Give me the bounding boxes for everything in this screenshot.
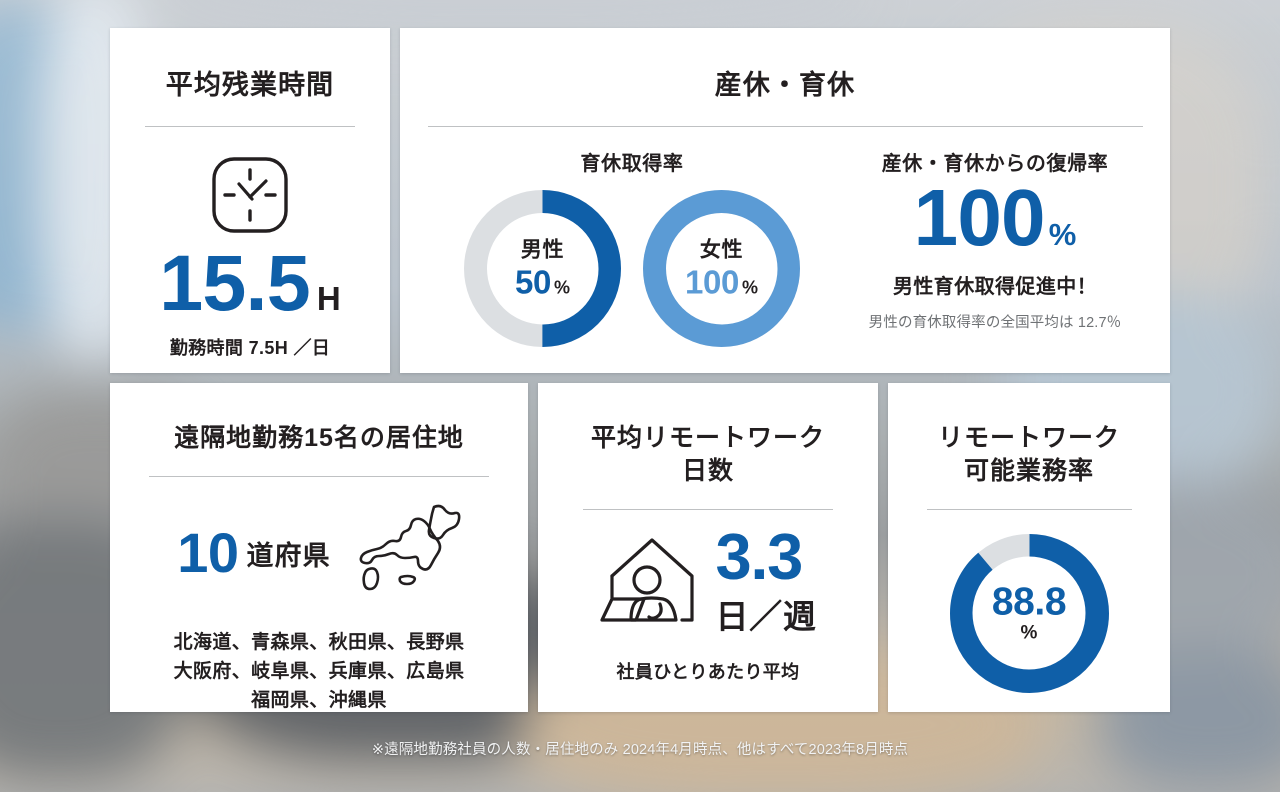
return-rate-suffix: % (1049, 217, 1077, 253)
prefecture-list-line: 大阪府、岐阜県、兵庫県、広島県 (132, 657, 506, 686)
donut-value-male: 50 (515, 265, 551, 298)
donut-suffix-female: % (742, 278, 758, 296)
donut-chart-female: 女性 100 % (643, 190, 800, 347)
overtime-value: 15.5 (159, 247, 310, 320)
overtime-note: 勤務時間 7.5H ／日 (132, 334, 368, 360)
prefecture-list-line: 北海道、青森県、秋田県、長野県 (132, 628, 506, 657)
japan-map-icon (357, 503, 461, 604)
prefecture-list-line: 福岡県、沖縄県 (132, 686, 506, 715)
overtime-unit: H (317, 280, 341, 318)
remote-rate-suffix: % (1021, 622, 1038, 644)
divider (428, 126, 1143, 127)
leave-return-rate-section: 産休・育休からの復帰率 100 % 男性育休取得促進中！ 男性の育休取得率の全国… (842, 147, 1148, 347)
prefecture-count-unit: 道府県 (246, 534, 330, 573)
card-remote-capable-rate: リモートワーク 可能業務率 88.8 % (888, 383, 1170, 712)
donut-value-female: 100 (685, 265, 739, 298)
return-rate-subtitle: 産休・育休からの復帰率 (842, 147, 1148, 176)
remote-days-value: 3.3 (716, 528, 817, 587)
divider (583, 509, 833, 510)
home-laptop-icon (600, 528, 704, 637)
donut-chart-remote-rate: 88.8 % (950, 534, 1109, 693)
return-rate-value-group: 100 % (842, 180, 1148, 256)
donut-label-female: 女性 (700, 239, 743, 260)
remote-days-unit: 日／週 (716, 590, 817, 638)
donut-suffix-male: % (554, 278, 570, 296)
card-title-remote-rate-line1: リモートワーク (938, 424, 1120, 452)
divider (927, 509, 1132, 510)
card-title-remote-days: 平均リモートワーク 日数 (560, 422, 856, 488)
donut-label-male: 男性 (521, 239, 564, 260)
card-average-remote-days: 平均リモートワーク 日数 3.3 日／週 (538, 383, 878, 712)
overtime-value-group: 15.5 H (132, 247, 368, 320)
footer-note: ※遠隔地勤務社員の人数・居住地のみ 2024年4月時点、他はすべて2023年8月… (0, 738, 1280, 759)
prefecture-count: 10 (177, 525, 238, 581)
card-remote-worker-locations: 遠隔地勤務15名の居住地 10 道府県 (110, 383, 528, 712)
leave-uptake-subtitle: 育休取得率 (422, 147, 842, 176)
card-title-overtime: 平均残業時間 (132, 68, 368, 104)
card-title-remote-days-line2: 日数 (682, 457, 734, 485)
remote-days-value-group: 3.3 日／週 (716, 528, 817, 639)
remote-days-note: 社員ひとりあたり平均 (560, 658, 856, 684)
card-title-remote-rate-line2: 可能業務率 (964, 457, 1094, 485)
return-rate-subnote: 男性の育休取得率の全国平均は 12.7％ (842, 311, 1148, 332)
card-title-remote-locations: 遠隔地勤務15名の居住地 (132, 422, 506, 455)
return-rate-value: 100 (914, 180, 1045, 256)
donut-chart-male: 男性 50 % (464, 190, 621, 347)
card-average-overtime: 平均残業時間 15.5 H 勤務時間 7.5H ／日 (110, 28, 390, 373)
clock-icon (132, 153, 368, 237)
leave-uptake-section: 育休取得率 男性 50 % (422, 147, 842, 347)
return-rate-note: 男性育休取得促進中！ (842, 270, 1148, 299)
card-title-remote-rate: リモートワーク 可能業務率 (910, 422, 1148, 488)
stats-board: 平均残業時間 15.5 H 勤務時間 7.5H ／日 (110, 28, 1170, 712)
card-title-remote-days-line1: 平均リモートワーク (591, 424, 825, 452)
prefecture-list: 北海道、青森県、秋田県、長野県 大阪府、岐阜県、兵庫県、広島県 福岡県、沖縄県 (132, 628, 506, 716)
divider (149, 476, 489, 477)
divider (145, 126, 355, 127)
remote-rate-value: 88.8 (992, 582, 1066, 621)
card-maternity-paternity-leave: 産休・育休 育休取得率 男性 (400, 28, 1170, 373)
card-title-leave: 産休・育休 (422, 68, 1148, 104)
